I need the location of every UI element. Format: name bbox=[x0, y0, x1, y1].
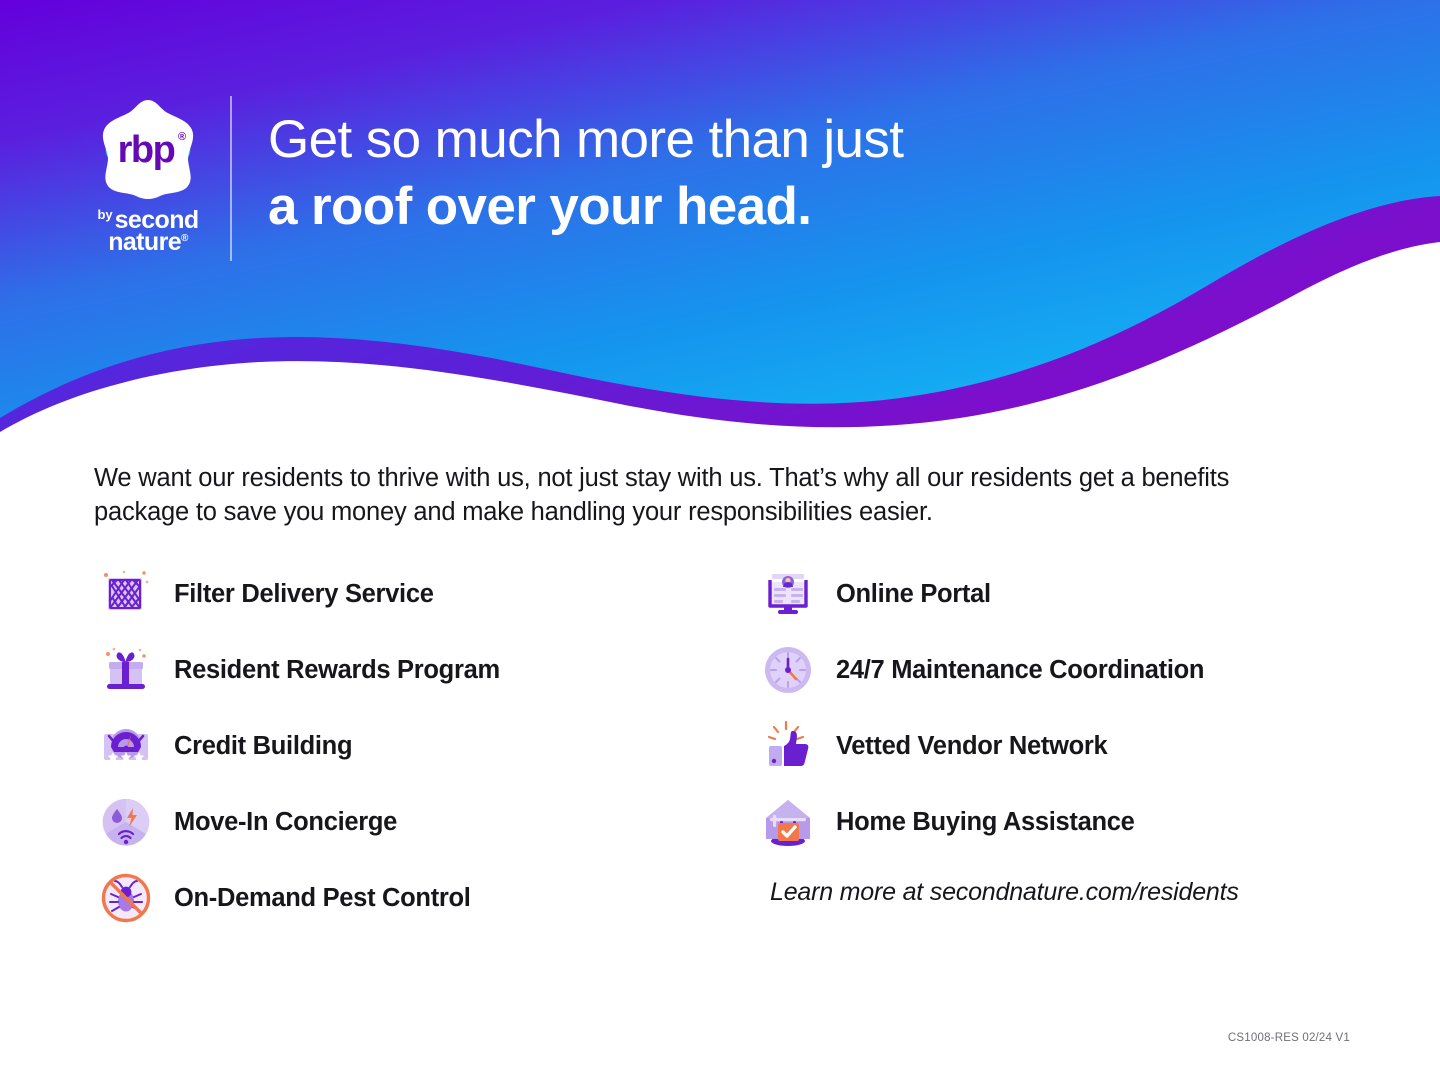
benefit-label: Credit Building bbox=[174, 732, 352, 761]
benefits-column-left: Filter Delivery Service bbox=[94, 556, 756, 936]
benefit-item-filter-delivery-service: Filter Delivery Service bbox=[94, 556, 756, 632]
house-check-icon bbox=[756, 791, 820, 853]
document-code: CS1008-RES 02/24 V1 bbox=[1228, 1032, 1350, 1044]
benefit-item-vetted-vendor-network: Vetted Vendor Network bbox=[756, 708, 1344, 784]
credit-gauge-icon bbox=[94, 715, 158, 777]
benefit-label: Resident Rewards Program bbox=[174, 656, 500, 685]
benefit-label: 24/7 Maintenance Coordination bbox=[836, 656, 1204, 685]
benefit-item-maintenance-coordination: 24/7 Maintenance Coordination bbox=[756, 632, 1344, 708]
gift-box-icon bbox=[94, 639, 158, 701]
headline-line-1: Get so much more than just bbox=[268, 108, 903, 173]
monitor-icon bbox=[756, 563, 820, 625]
air-filter-icon bbox=[94, 563, 158, 625]
svg-text:rbp: rbp bbox=[118, 129, 175, 171]
logo-byline-reg: ® bbox=[181, 233, 188, 244]
benefit-label: Vetted Vendor Network bbox=[836, 732, 1107, 761]
logo-divider bbox=[230, 96, 232, 261]
logo-byline-by: by bbox=[97, 208, 112, 221]
rbp-badge-icon: rbp ® bbox=[94, 96, 202, 204]
benefit-item-move-in-concierge: Move-In Concierge bbox=[94, 784, 756, 860]
page-title: Get so much more than just a roof over y… bbox=[268, 108, 903, 239]
headline-line-2: a roof over your head. bbox=[268, 175, 903, 240]
utilities-circle-icon bbox=[94, 791, 158, 853]
intro-paragraph: We want our residents to thrive with us,… bbox=[94, 462, 1304, 530]
benefits-list: Filter Delivery Service bbox=[94, 556, 1344, 936]
benefit-item-resident-rewards-program: Resident Rewards Program bbox=[94, 632, 756, 708]
no-pest-icon bbox=[94, 867, 158, 929]
benefit-item-home-buying-assistance: Home Buying Assistance bbox=[756, 784, 1344, 860]
logo-byline: bysecond nature® bbox=[88, 208, 208, 255]
benefits-column-right: Online Portal bbox=[756, 556, 1344, 936]
learn-more-text[interactable]: Learn more at secondnature.com/residents bbox=[770, 878, 1344, 907]
rbp-logo: rbp ® bysecond nature® bbox=[88, 96, 208, 261]
benefit-item-credit-building: Credit Building bbox=[94, 708, 756, 784]
svg-text:®: ® bbox=[178, 131, 186, 143]
flyer-page: rbp ® bysecond nature® Get so much more … bbox=[0, 0, 1440, 1080]
thumbs-up-icon bbox=[756, 715, 820, 777]
benefit-label: Filter Delivery Service bbox=[174, 580, 434, 609]
benefit-label: On-Demand Pest Control bbox=[174, 884, 471, 913]
benefit-label: Home Buying Assistance bbox=[836, 808, 1135, 837]
benefit-item-online-portal: Online Portal bbox=[756, 556, 1344, 632]
rbp-logo-mark: rbp ® bbox=[94, 96, 202, 204]
benefit-label: Online Portal bbox=[836, 580, 991, 609]
benefit-label: Move-In Concierge bbox=[174, 808, 397, 837]
clock-icon bbox=[756, 639, 820, 701]
benefit-item-on-demand-pest-control: On-Demand Pest Control bbox=[94, 860, 756, 936]
